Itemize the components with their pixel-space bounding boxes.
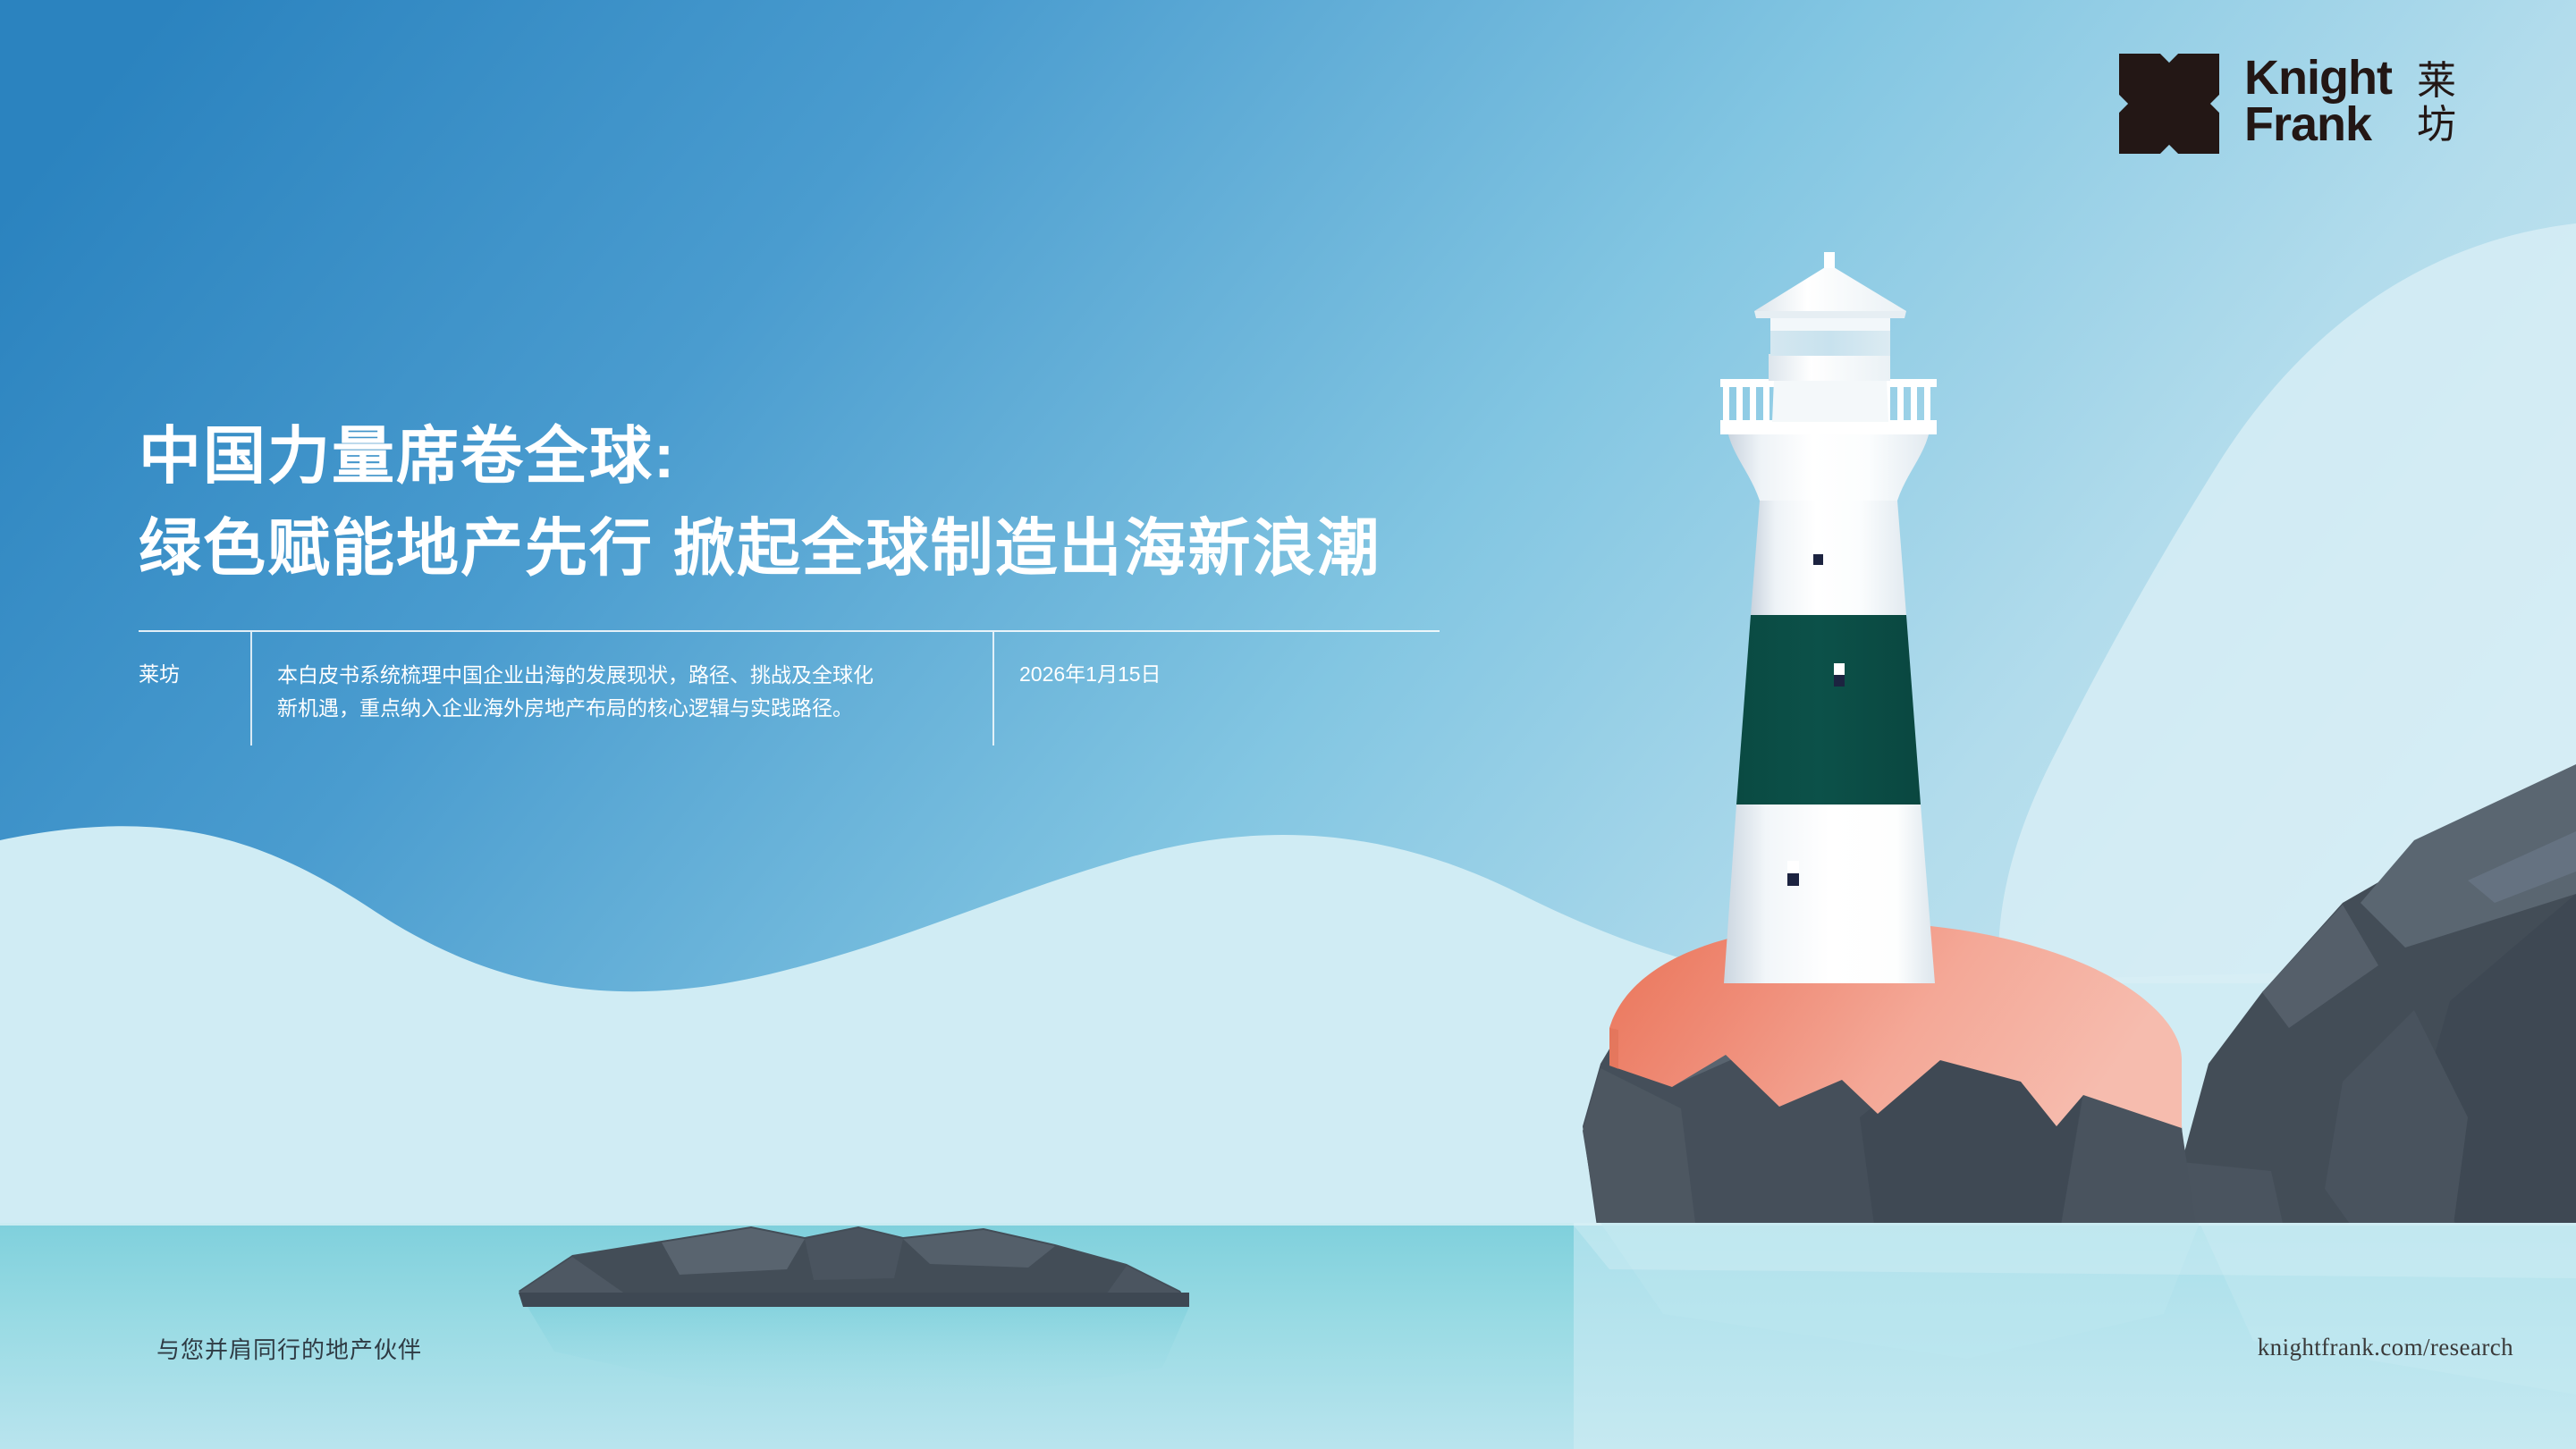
logo-wordmark-line1: Knight (2244, 55, 2392, 102)
water-sheen (1574, 1226, 2576, 1278)
footer-research-url[interactable]: knightfrank.com/research (2258, 1334, 2513, 1361)
knight-frank-bowtie-mark-icon (2119, 54, 2219, 154)
meta-description-line-2: 新机遇，重点纳入企业海外房地产布局的核心逻辑与实践路径。 (277, 692, 992, 725)
cover-meta-row: 莱坊 本白皮书系统梳理中国企业出海的发展现状，路径、挑战及全球化 新机遇，重点纳… (139, 630, 1440, 746)
meta-description: 本白皮书系统梳理中国企业出海的发展现状，路径、挑战及全球化 新机遇，重点纳入企业… (250, 632, 992, 746)
footer-tagline: 与您并肩同行的地产伙伴 (156, 1332, 422, 1365)
report-cover: Knight Frank 莱 坊 中国力量席卷全球: 绿色赋能地产先行 掀起全球… (0, 0, 2576, 1449)
meta-description-line-1: 本白皮书系统梳理中国企业出海的发展现状，路径、挑战及全球化 (277, 659, 992, 692)
gallery-deck (1720, 420, 1937, 434)
tower-band-white-bottom (1724, 805, 1935, 983)
knight-frank-logo[interactable]: Knight Frank 莱 坊 (2119, 54, 2457, 154)
title-line-1: 中国力量席卷全球: (139, 420, 1569, 493)
lantern-glass-main (1770, 329, 1890, 356)
tower-band-white-upper (1751, 501, 1906, 615)
lantern-base (1769, 354, 1890, 381)
lantern-finial (1824, 252, 1835, 268)
meta-brand: 莱坊 (139, 632, 250, 746)
tower-shoulder (1727, 431, 1930, 501)
cover-title: 中国力量席卷全球: 绿色赋能地产先行 掀起全球制造出海新浪潮 (139, 420, 1569, 585)
logo-chinese-line2: 坊 (2417, 103, 2457, 147)
logo-wordmark-line2: Frank (2244, 102, 2392, 148)
logo-chinese-line1: 莱 (2417, 59, 2457, 103)
tower-band-green (1736, 615, 1921, 805)
meta-date: 2026年1月15日 (992, 632, 1440, 746)
title-line-2: 绿色赋能地产先行 掀起全球制造出海新浪潮 (139, 512, 1569, 585)
logo-chinese-name: 莱 坊 (2417, 54, 2457, 147)
logo-wordmark: Knight Frank (2244, 54, 2392, 148)
